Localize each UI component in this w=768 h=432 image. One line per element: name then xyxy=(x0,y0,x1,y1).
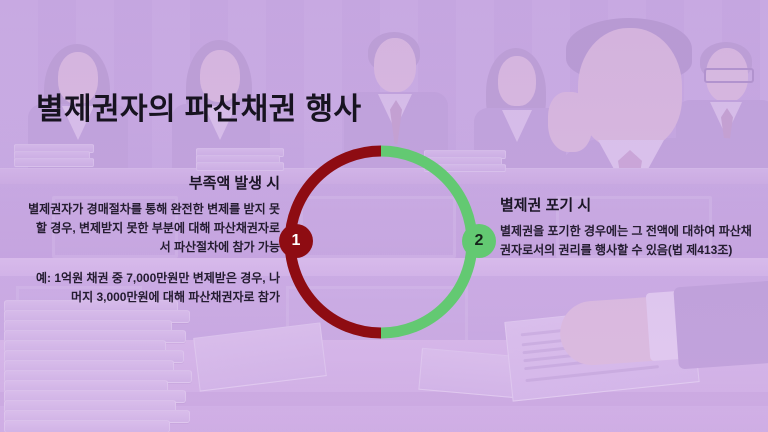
ring-marker-2[interactable]: 2 xyxy=(462,224,496,258)
ring-marker-1[interactable]: 1 xyxy=(279,224,313,258)
left-paragraph-1: 별제권자가 경매절차를 통해 완전한 변제를 받지 못할 경우, 변제받지 못한… xyxy=(28,200,280,258)
right-paragraph-1: 별제권을 포기한 경우에는 그 전액에 대하여 파산채권자로서의 권리를 행사할… xyxy=(500,222,758,261)
content-block-right: 별제권 포기 시 별제권을 포기한 경우에는 그 전액에 대하여 파산채권자로서… xyxy=(500,196,758,260)
slide-content: 별제권자의 파산채권 행사 1 2 부족액 발생 시 별제권자가 경매절차를 통… xyxy=(0,0,768,432)
ring-segment-2 xyxy=(381,151,472,333)
content-block-left: 부족액 발생 시 별제권자가 경매절차를 통해 완전한 변제를 받지 못할 경우… xyxy=(28,174,280,308)
left-heading: 부족액 발생 시 xyxy=(28,174,280,194)
slide-root: 별제권자의 파산채권 행사 1 2 부족액 발생 시 별제권자가 경매절차를 통… xyxy=(0,0,768,432)
page-title: 별제권자의 파산채권 행사 xyxy=(36,84,361,128)
right-heading: 별제권 포기 시 xyxy=(500,196,758,216)
left-paragraph-2: 예: 1억원 채권 중 7,000만원만 변제받은 경우, 나머지 3,000만… xyxy=(28,269,280,308)
